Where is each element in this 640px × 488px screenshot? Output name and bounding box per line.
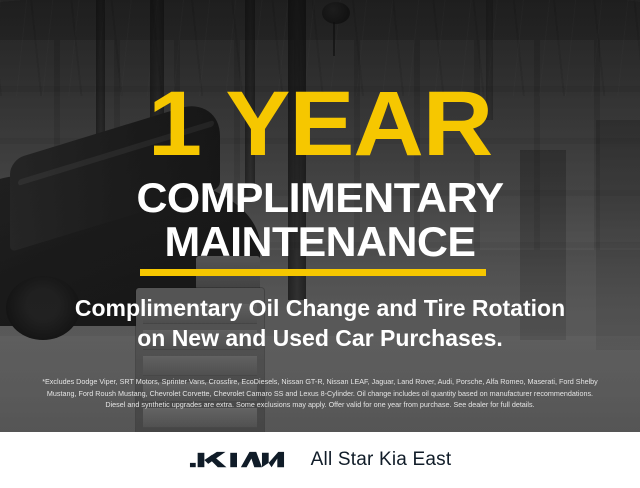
disclaimer-line: Mustang, Ford Roush Mustang, Chevrolet C… xyxy=(8,388,632,400)
headline-year: 1 YEAR xyxy=(0,78,640,170)
disclaimer-line: Diesel and synthetic upgrades are extra.… xyxy=(8,399,632,411)
dealer-name: All Star Kia East xyxy=(311,449,452,471)
headline-complimentary: COMPLIMENTARY xyxy=(0,176,640,220)
offer-line-1: Complimentary Oil Change and Tire Rotati… xyxy=(0,294,640,322)
offer-line-2: on New and Used Car Purchases. xyxy=(0,324,640,352)
banner-content: 1 YEAR COMPLIMENTARY MAINTENANCE Complim… xyxy=(0,0,640,432)
yellow-divider-rule xyxy=(140,269,486,276)
footer-bar: All Star Kia East xyxy=(0,432,640,488)
promotional-banner: 1 YEAR COMPLIMENTARY MAINTENANCE Complim… xyxy=(0,0,640,488)
kia-logo xyxy=(189,448,285,472)
headline-maintenance: MAINTENANCE xyxy=(0,220,640,264)
disclaimer-line: *Excludes Dodge Viper, SRT Motors, Sprin… xyxy=(8,376,632,388)
disclaimer-text: *Excludes Dodge Viper, SRT Motors, Sprin… xyxy=(8,376,632,411)
